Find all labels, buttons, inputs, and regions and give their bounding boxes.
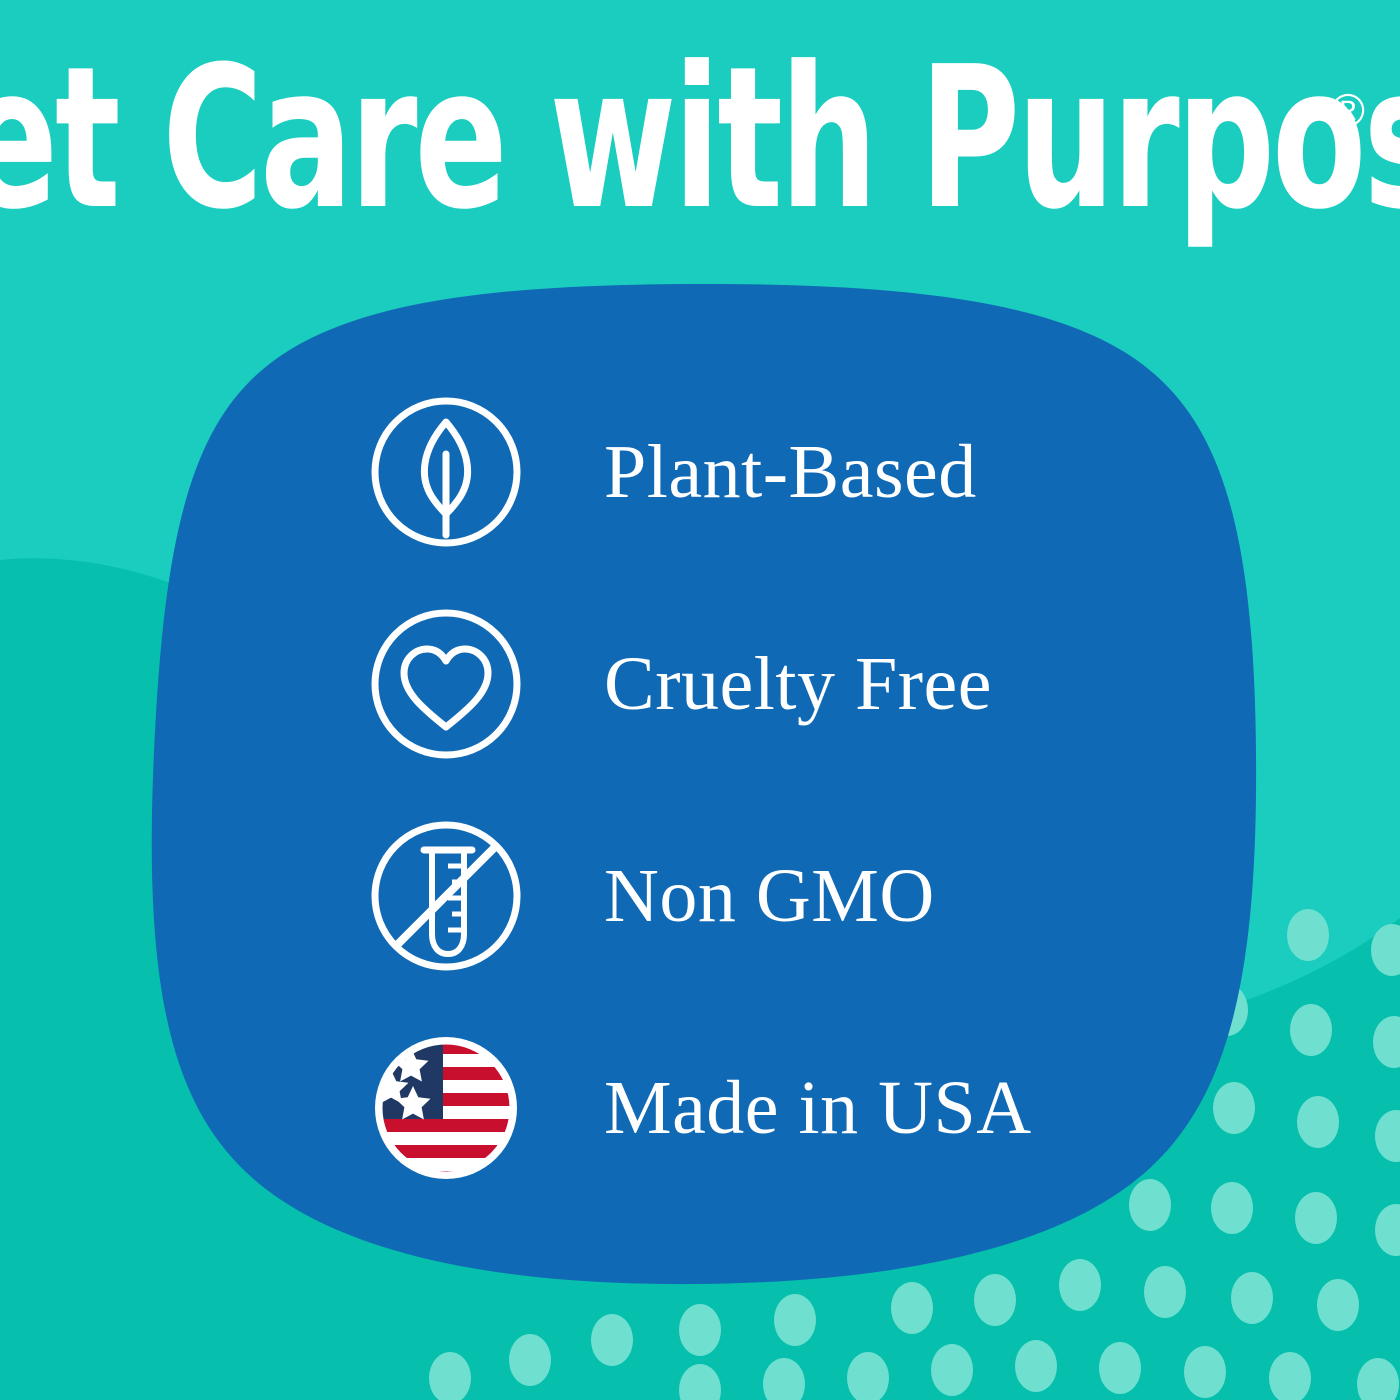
leaf-icon	[366, 392, 526, 552]
feature-label-made-in-usa: Made in USA	[604, 1070, 1032, 1146]
usa-flag-icon	[366, 1028, 526, 1188]
feature-label-non-gmo: Non GMO	[604, 858, 935, 934]
feature-item-cruelty-free[interactable]: Cruelty Free	[150, 578, 1260, 790]
promo-graphic: Pet Care with Purpose ® Plant-Based	[0, 0, 1400, 1400]
feature-item-made-in-usa[interactable]: Made in USA	[150, 1002, 1260, 1214]
feature-card: Plant-Based Cruelty Free	[150, 282, 1260, 1292]
feature-label-cruelty-free: Cruelty Free	[604, 646, 992, 722]
no-gmo-icon	[366, 816, 526, 976]
feature-item-plant-based[interactable]: Plant-Based	[150, 366, 1260, 578]
feature-list: Plant-Based Cruelty Free	[150, 282, 1260, 1292]
feature-item-non-gmo[interactable]: Non GMO	[150, 790, 1260, 1002]
heart-icon	[366, 604, 526, 764]
feature-label-plant-based: Plant-Based	[604, 434, 977, 510]
